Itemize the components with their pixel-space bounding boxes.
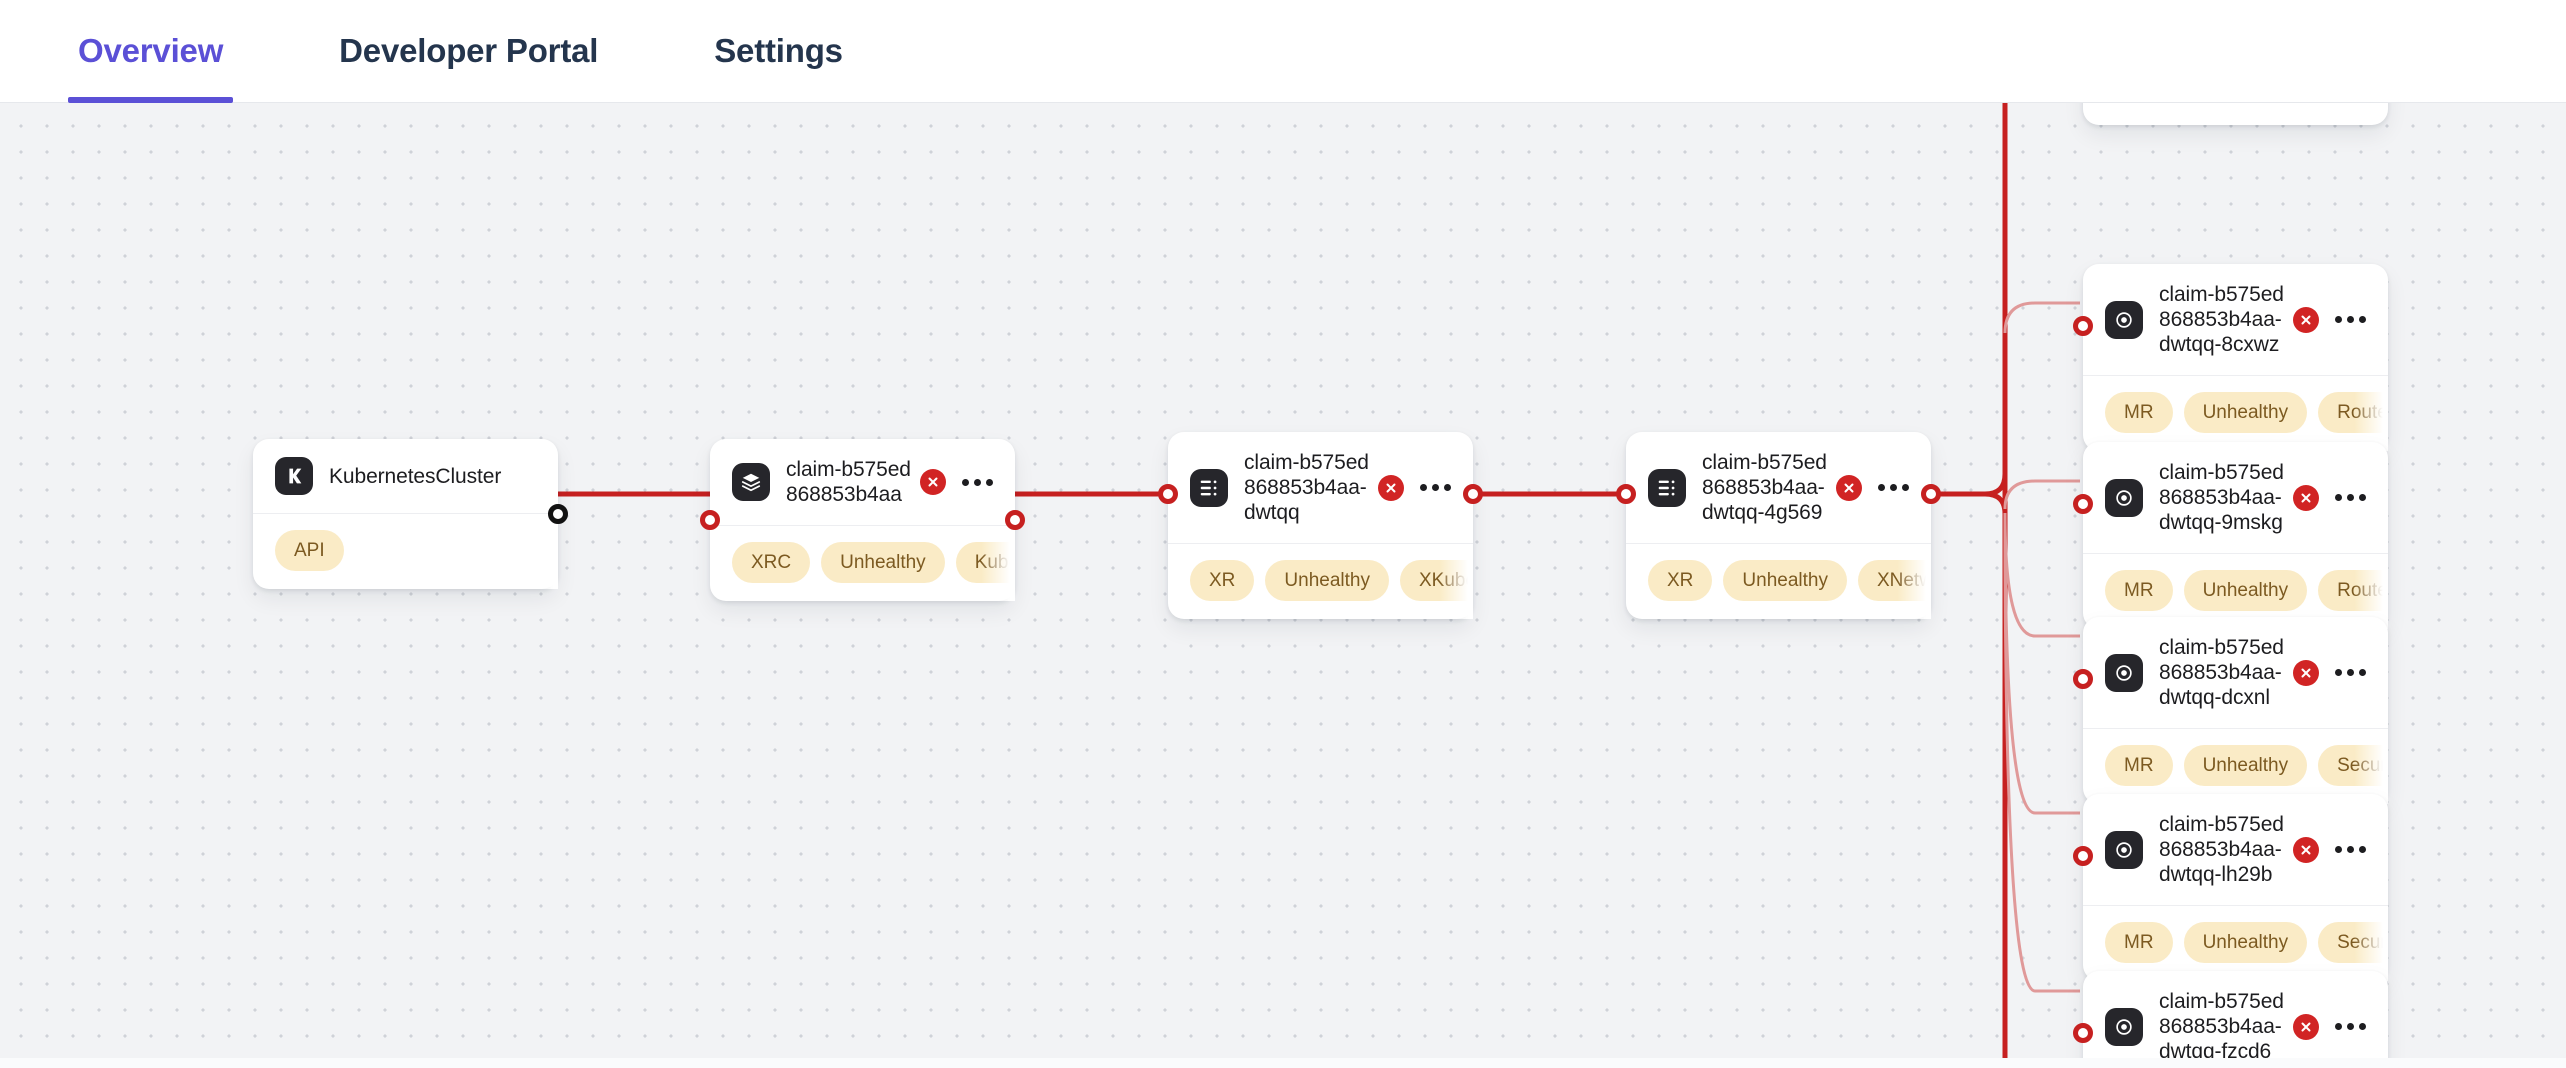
node-title: claim-b575ed868853b4aa-dwtqq-4g569 [1702,450,1836,525]
node-tags: XRC Unhealthy KubernetesCluster [710,526,1015,601]
tag-type[interactable]: SecurityGroupRule [2318,922,2388,963]
node-menu-button[interactable] [2333,663,2368,682]
node-claim-dwtqq-9mskg[interactable]: claim-b575ed868853b4aa-dwtqq-9mskg MR Un… [2083,442,2388,629]
tag-type[interactable]: XNetwork [1858,560,1931,601]
tag-type[interactable]: KubernetesCluster [956,542,1015,583]
list-rows-icon [1190,469,1228,507]
node-tags: MR Unhealthy SecurityGroupRule [2083,906,2388,981]
node-tags: MR Unhealthy RouteTable [2083,376,2388,451]
resource-graph-canvas[interactable]: KubernetesCluster API claim-b575ed868853… [0,103,2566,1058]
node-handle-source[interactable] [1921,484,1941,504]
target-circle-icon [2105,1008,2143,1046]
edge-branch-fzcd6 [2005,513,2080,991]
tag-kind[interactable]: XR [1648,560,1712,601]
node-claim-dwtqq-8cxwz[interactable]: claim-b575ed868853b4aa-dwtqq-8cxwz MR Un… [2083,264,2388,451]
kubernetes-k-icon [275,457,313,495]
edge-branch-8cxwz [2005,303,2080,333]
node-menu-button[interactable] [960,473,995,492]
status-badge-unhealthy[interactable] [1836,475,1862,501]
edge-branch-dcxnl [2005,513,2080,636]
node-claim-dwtqq[interactable]: claim-b575ed868853b4aa-dwtqq XR Unhealth… [1168,432,1473,619]
node-header: KubernetesCluster [253,439,558,514]
tab-developer-portal[interactable]: Developer Portal [321,0,616,103]
node-handle-target[interactable] [2073,316,2093,336]
tag-type[interactable]: XKubernetesCluster [1400,560,1473,601]
node-title: claim-b575ed868853b4aa-dwtqq-lh29b [2159,812,2293,887]
node-kubernetes-cluster[interactable]: KubernetesCluster API [253,439,558,589]
tag-health[interactable]: Unhealthy [2184,922,2308,963]
node-handle-target[interactable] [2073,669,2093,689]
node-handle-target[interactable] [2073,846,2093,866]
tag-health[interactable]: Unhealthy [1723,560,1847,601]
tag-health[interactable]: Unhealthy [2184,570,2308,611]
tag-kind[interactable]: API [275,530,344,571]
node-title: claim-b575ed868853b4aa [786,457,920,507]
tag-health[interactable]: Unhealthy [2184,745,2308,786]
tag-health[interactable]: Unhealthy [1265,560,1389,601]
node-partial-top[interactable] [2083,103,2388,125]
node-title: claim-b575ed868853b4aa-dwtqq [1244,450,1378,525]
tag-health[interactable]: Unhealthy [821,542,945,583]
node-tags: XR Unhealthy XNetwork [1626,544,1931,619]
node-tags: MR Unhealthy SecurityGroupRule [2083,729,2388,804]
node-header: claim-b575ed868853b4aa-dwtqq-lh29b [2083,794,2388,906]
node-menu-button[interactable] [2333,310,2368,329]
edge-trunk-junction-top [1985,474,2005,494]
node-handle-target[interactable] [700,510,720,530]
status-badge-unhealthy[interactable] [2293,837,2319,863]
node-header: claim-b575ed868853b4aa-dwtqq-4g569 [1626,432,1931,544]
edge-trunk-junction-bottom [1985,494,2005,514]
node-menu-button[interactable] [1876,478,1911,497]
node-menu-button[interactable] [2333,488,2368,507]
target-circle-icon [2105,301,2143,339]
node-menu-button[interactable] [1418,478,1453,497]
tab-settings-label: Settings [714,32,843,70]
tab-overview[interactable]: Overview [60,0,241,103]
node-header: claim-b575ed868853b4aa-dwtqq-fzcd6 [2083,971,2388,1058]
status-badge-unhealthy[interactable] [1378,475,1404,501]
node-claim-dwtqq-lh29b[interactable]: claim-b575ed868853b4aa-dwtqq-lh29b MR Un… [2083,794,2388,981]
tag-kind[interactable]: MR [2105,745,2173,786]
node-header: claim-b575ed868853b4aa-dwtqq [1168,432,1473,544]
tag-type[interactable]: Route [2318,570,2388,611]
node-claim-dwtqq-fzcd6[interactable]: claim-b575ed868853b4aa-dwtqq-fzcd6 MR Un… [2083,971,2388,1058]
node-handle-target[interactable] [1616,484,1636,504]
node-title: claim-b575ed868853b4aa-dwtqq-9mskg [2159,460,2293,535]
tag-kind[interactable]: MR [2105,570,2173,611]
node-header: claim-b575ed868853b4aa [710,439,1015,526]
node-menu-button[interactable] [2333,1017,2368,1036]
tab-settings[interactable]: Settings [696,0,861,103]
list-rows-icon [1648,469,1686,507]
tag-kind[interactable]: MR [2105,922,2173,963]
node-header: claim-b575ed868853b4aa-dwtqq-dcxnl [2083,617,2388,729]
node-header: claim-b575ed868853b4aa-dwtqq-8cxwz [2083,264,2388,376]
tag-kind[interactable]: MR [2105,392,2173,433]
status-badge-unhealthy[interactable] [2293,307,2319,333]
node-title: KubernetesCluster [329,464,538,489]
node-handle-target[interactable] [2073,1023,2093,1043]
status-badge-unhealthy[interactable] [920,469,946,495]
target-circle-icon [2105,479,2143,517]
node-handle-source[interactable] [1005,510,1025,530]
target-circle-icon [2105,831,2143,869]
node-claim-dwtqq-4g569[interactable]: claim-b575ed868853b4aa-dwtqq-4g569 XR Un… [1626,432,1931,619]
tag-kind[interactable]: XRC [732,542,810,583]
tag-type[interactable]: SecurityGroupRule [2318,745,2388,786]
status-badge-unhealthy[interactable] [2293,1014,2319,1040]
tab-developer-portal-label: Developer Portal [339,32,598,70]
edge-branch-9mskg [2005,481,2080,509]
layers-stack-icon [732,463,770,501]
node-claim-dwtqq-dcxnl[interactable]: claim-b575ed868853b4aa-dwtqq-dcxnl MR Un… [2083,617,2388,804]
node-handle-target[interactable] [1158,484,1178,504]
node-handle-source[interactable] [1463,484,1483,504]
node-handle-target[interactable] [2073,494,2093,514]
node-claim-b575ed868853b4aa[interactable]: claim-b575ed868853b4aa XRC Unhealthy Kub… [710,439,1015,601]
node-tags: API [253,514,558,589]
edge-branch-lh29b [2005,513,2080,813]
tag-kind[interactable]: XR [1190,560,1254,601]
tab-overview-label: Overview [78,32,223,70]
node-title: claim-b575ed868853b4aa-dwtqq-dcxnl [2159,635,2293,710]
main-tabbar: Overview Developer Portal Settings [0,0,2566,103]
node-handle-source[interactable] [548,504,568,524]
status-badge-unhealthy[interactable] [2293,485,2319,511]
node-title: claim-b575ed868853b4aa-dwtqq-fzcd6 [2159,989,2293,1058]
node-header: claim-b575ed868853b4aa-dwtqq-9mskg [2083,442,2388,554]
target-circle-icon [2105,654,2143,692]
node-menu-button[interactable] [2333,840,2368,859]
status-badge-unhealthy[interactable] [2293,660,2319,686]
tag-type[interactable]: RouteTable [2318,392,2388,433]
node-title: claim-b575ed868853b4aa-dwtqq-8cxwz [2159,282,2293,357]
node-tags: XR Unhealthy XKubernetesCluster [1168,544,1473,619]
tag-health[interactable]: Unhealthy [2184,392,2308,433]
canvas-bottom-edge [0,1058,2566,1068]
